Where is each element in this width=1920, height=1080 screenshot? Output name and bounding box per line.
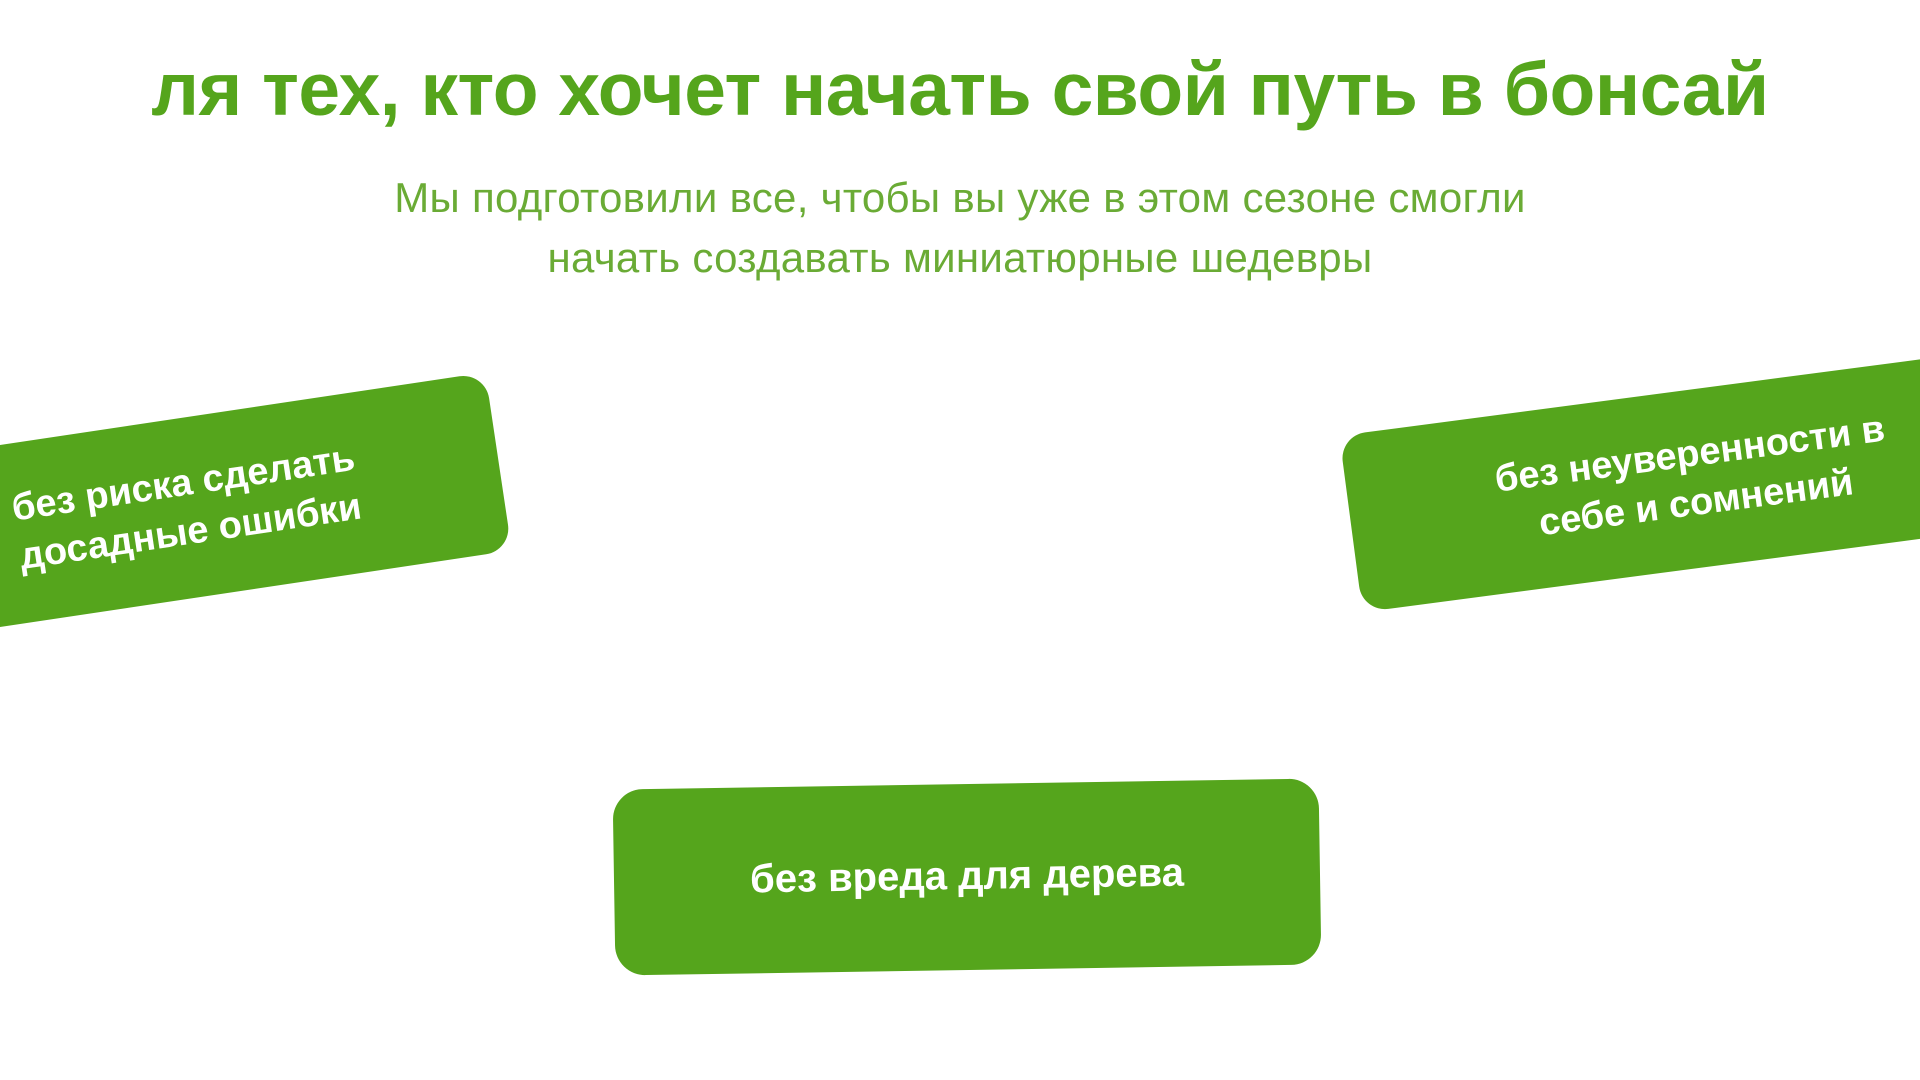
hero-subtitle-line-1: Мы подготовили все, чтобы вы уже в этом … [0,168,1920,228]
hero-section: ля тех, кто хочет начать свой путь в бон… [0,0,1920,1080]
benefit-badge-no-harm-line-1: без вреда для дерева [750,848,1185,906]
hero-subtitle: Мы подготовили все, чтобы вы уже в этом … [0,168,1920,287]
benefit-badge-no-harm: без вреда для дерева [613,778,1322,975]
page-title: ля тех, кто хочет начать свой путь в бон… [151,52,1768,127]
benefit-badge-no-doubt: без неуверенности в себе и сомнений [1339,346,1920,613]
headline-clip: ля тех, кто хочет начать свой путь в бон… [0,34,1920,144]
benefit-badge-no-risk: без риска сделать досадные ошибки [0,372,512,643]
hero-subtitle-line-2: начать создавать миниатюрные шедевры [0,228,1920,288]
